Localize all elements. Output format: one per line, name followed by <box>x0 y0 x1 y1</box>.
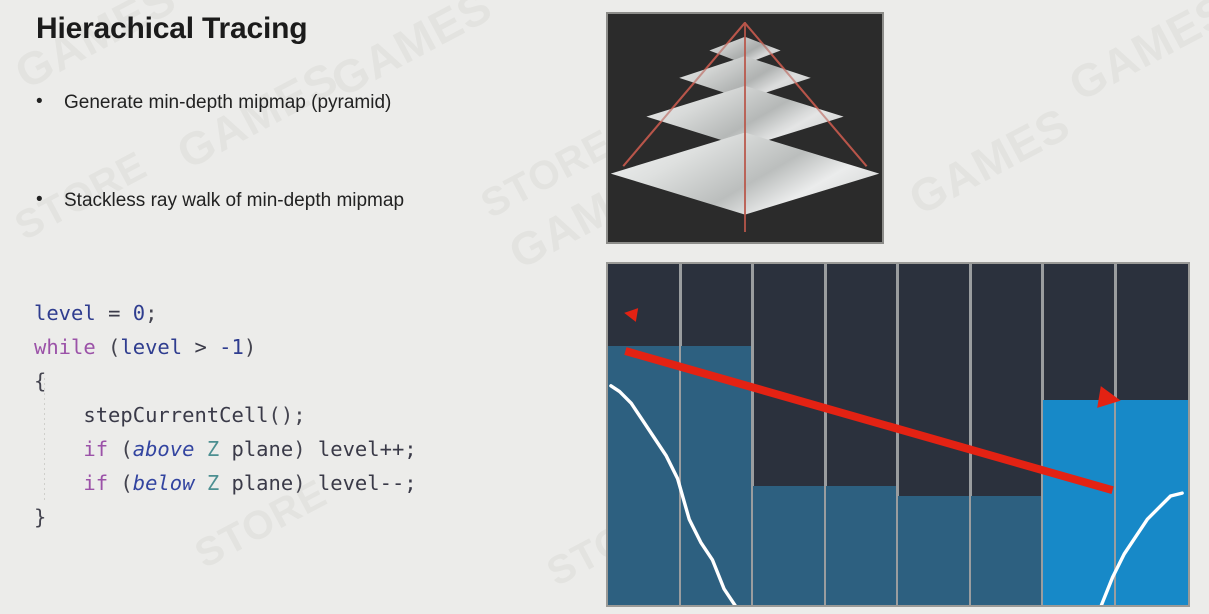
code-token-keyword: while <box>34 335 96 359</box>
code-token-operator: = <box>108 301 120 325</box>
code-token-plain <box>34 403 83 427</box>
code-token-variable: level <box>120 335 182 359</box>
code-token-plain <box>120 301 132 325</box>
mipmap-pyramid-figure <box>606 12 884 244</box>
pyramid-center-axis <box>744 22 746 232</box>
code-token-plain: level--; <box>306 471 417 495</box>
code-token-number: -1 <box>219 335 244 359</box>
code-token-punctuation: ) <box>293 471 305 495</box>
code-token-plain: level++; <box>306 437 417 461</box>
code-token-plain: plane <box>219 437 293 461</box>
code-line: stepCurrentCell(); <box>34 398 417 432</box>
code-token-punctuation: ( <box>108 437 133 461</box>
ray-arrow <box>608 264 1188 607</box>
bullet-label: Stackless ray walk of min-depth mipmap <box>64 190 404 212</box>
code-snippet: level = 0;while (level > -1){ stepCurren… <box>34 296 417 534</box>
code-token-plain <box>207 335 219 359</box>
bullet-marker: • <box>36 190 64 211</box>
code-token-punctuation: } <box>34 505 46 529</box>
code-token-plain <box>34 471 83 495</box>
bullet-label: Generate min-depth mipmap (pyramid) <box>64 92 391 114</box>
min-depth-mipmap-figure <box>606 262 1190 607</box>
code-token-type: Z <box>207 437 219 461</box>
code-line: level = 0; <box>34 296 417 330</box>
code-line: } <box>34 500 417 534</box>
watermark-text: GAMES <box>168 50 347 179</box>
code-token-punctuation: ( <box>96 335 121 359</box>
code-token-punctuation: { <box>34 369 46 393</box>
watermark-text: GAMES <box>900 96 1079 225</box>
watermark-text: GAMES <box>1060 0 1209 112</box>
code-token-emphasis: above <box>133 437 195 461</box>
code-token-plain <box>34 437 83 461</box>
code-token-keyword: if <box>83 437 108 461</box>
code-token-keyword: if <box>83 471 108 495</box>
code-line: if (below Z plane) level--; <box>34 466 417 500</box>
code-line: while (level > -1) <box>34 330 417 364</box>
bullet-item-1: • Stackless ray walk of min-depth mipmap <box>36 190 404 212</box>
code-token-number: 0 <box>133 301 145 325</box>
code-token-plain <box>194 471 206 495</box>
code-token-punctuation: ) <box>293 437 305 461</box>
code-token-function: stepCurrentCell <box>83 403 268 427</box>
page-title: Hierachical Tracing <box>36 12 307 46</box>
bullet-marker: • <box>36 92 64 113</box>
ray-arrowhead <box>1097 386 1122 411</box>
code-line: { <box>34 364 417 398</box>
code-token-plain <box>182 335 194 359</box>
watermark-text: STORE <box>474 121 621 227</box>
code-token-punctuation: (); <box>269 403 306 427</box>
code-token-operator: > <box>194 335 206 359</box>
bullet-item-0: • Generate min-depth mipmap (pyramid) <box>36 92 391 114</box>
code-token-punctuation: ; <box>145 301 157 325</box>
code-token-emphasis: below <box>133 471 195 495</box>
code-token-plain <box>96 301 108 325</box>
code-token-punctuation: ( <box>108 471 133 495</box>
code-token-plain: plane <box>219 471 293 495</box>
ray-shaft <box>625 351 1112 490</box>
code-token-punctuation: ) <box>244 335 256 359</box>
code-line: if (above Z plane) level++; <box>34 432 417 466</box>
code-token-plain <box>194 437 206 461</box>
code-token-variable: level <box>34 301 96 325</box>
code-token-type: Z <box>207 471 219 495</box>
